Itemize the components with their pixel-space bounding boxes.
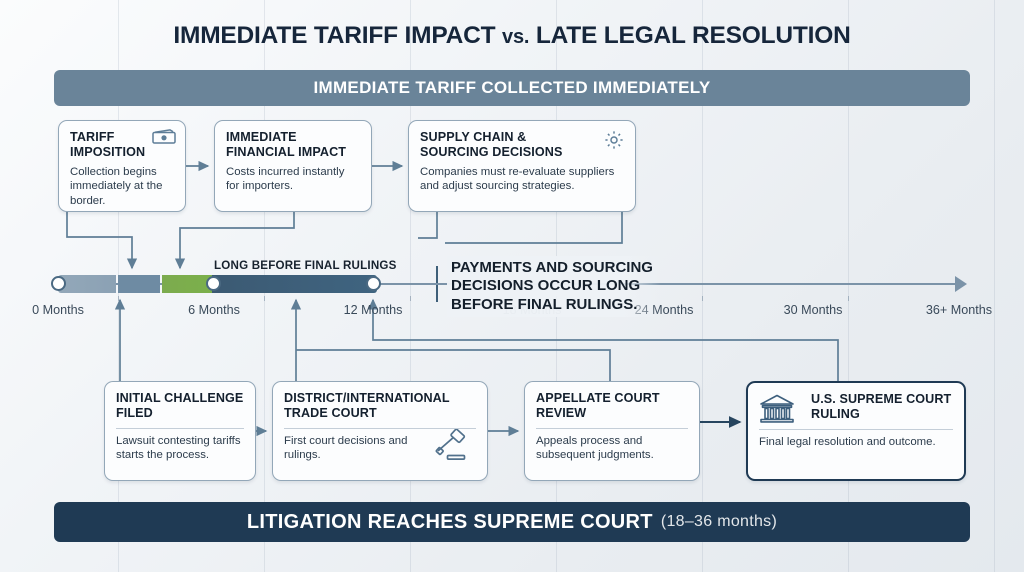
timeline-segment-litigation: [212, 275, 377, 293]
banner-bottom-label: LITIGATION REACHES SUPREME COURT: [247, 511, 653, 534]
card-supply-chain-sourcing[interactable]: SUPPLY CHAIN & SOURCING DECISIONS Compan…: [408, 120, 636, 212]
card-body: Collection begins immediately at the bor…: [70, 165, 174, 208]
banner-bottom-duration: (18–36 months): [661, 513, 777, 531]
card-body: Appeals process and subsequent judgments…: [536, 428, 688, 463]
timeline-label-6: 6 Months: [188, 303, 240, 317]
timeline-segment-tariff: [58, 275, 116, 293]
card-body: Final legal resolution and outcome.: [759, 429, 953, 449]
card-appellate-court-review[interactable]: APPELLATE COURT REVIEW Appeals process a…: [524, 381, 700, 481]
card-tariff-imposition[interactable]: TARIFF IMPOSITION Collection begins imme…: [58, 120, 186, 212]
timeline-node-0: [51, 276, 66, 291]
timeline-node-6: [206, 276, 221, 291]
card-title: IMMEDIATE FINANCIAL IMPACT: [226, 130, 360, 161]
timeline-label-30: 30 Months: [784, 303, 843, 317]
timeline-label-36: 36+ Months: [926, 303, 992, 317]
gavel-icon: [433, 429, 473, 468]
timeline-tick: [410, 296, 411, 301]
timeline-label-12: 12 Months: [344, 303, 403, 317]
timeline-node-12: [366, 276, 381, 291]
card-body: Lawsuit contesting tariffs starts the pr…: [116, 428, 244, 463]
timeline-tick: [702, 296, 703, 301]
courthouse-icon: [758, 393, 796, 431]
banknote-icon: [152, 129, 176, 149]
card-title: SUPPLY CHAIN & SOURCING DECISIONS: [420, 130, 624, 161]
timeline-arrowhead: [955, 276, 967, 292]
timeline-overlay-label: LONG BEFORE FINAL RULINGS: [214, 259, 397, 272]
card-title: INITIAL CHALLENGE FILED: [116, 391, 244, 422]
card-title: DISTRICT/INTERNATIONAL TRADE COURT: [284, 391, 476, 422]
infographic-canvas: IMMEDIATE TARIFF IMPACT vs. LATE LEGAL R…: [0, 0, 1024, 572]
banner-litigation-supreme-court: LITIGATION REACHES SUPREME COURT (18–36 …: [54, 502, 970, 542]
card-district-trade-court[interactable]: DISTRICT/INTERNATIONAL TRADE COURT First…: [272, 381, 488, 481]
timeline-tick: [118, 296, 119, 301]
timeline-segment-sourcing: [162, 275, 212, 293]
timeline-segment-financial: [118, 275, 160, 293]
timeline-tick: [848, 296, 849, 301]
card-supreme-court-ruling[interactable]: U.S. SUPREME COURT RULING Final legal re…: [746, 381, 966, 481]
card-title: APPELLATE COURT REVIEW: [536, 391, 688, 422]
gear-icon: [603, 129, 625, 156]
card-body: Costs incurred instantly for importers.: [226, 165, 360, 194]
timeline-callout: PAYMENTS AND SOURCING DECISIONS OCCUR LO…: [447, 256, 661, 317]
card-immediate-financial-impact[interactable]: IMMEDIATE FINANCIAL IMPACT Costs incurre…: [214, 120, 372, 212]
timeline-tick: [264, 296, 265, 301]
card-initial-challenge-filed[interactable]: INITIAL CHALLENGE FILED Lawsuit contesti…: [104, 381, 256, 481]
timeline-label-0: 0 Months: [32, 303, 84, 317]
card-body: Companies must re-evaluate suppliers and…: [420, 165, 624, 194]
